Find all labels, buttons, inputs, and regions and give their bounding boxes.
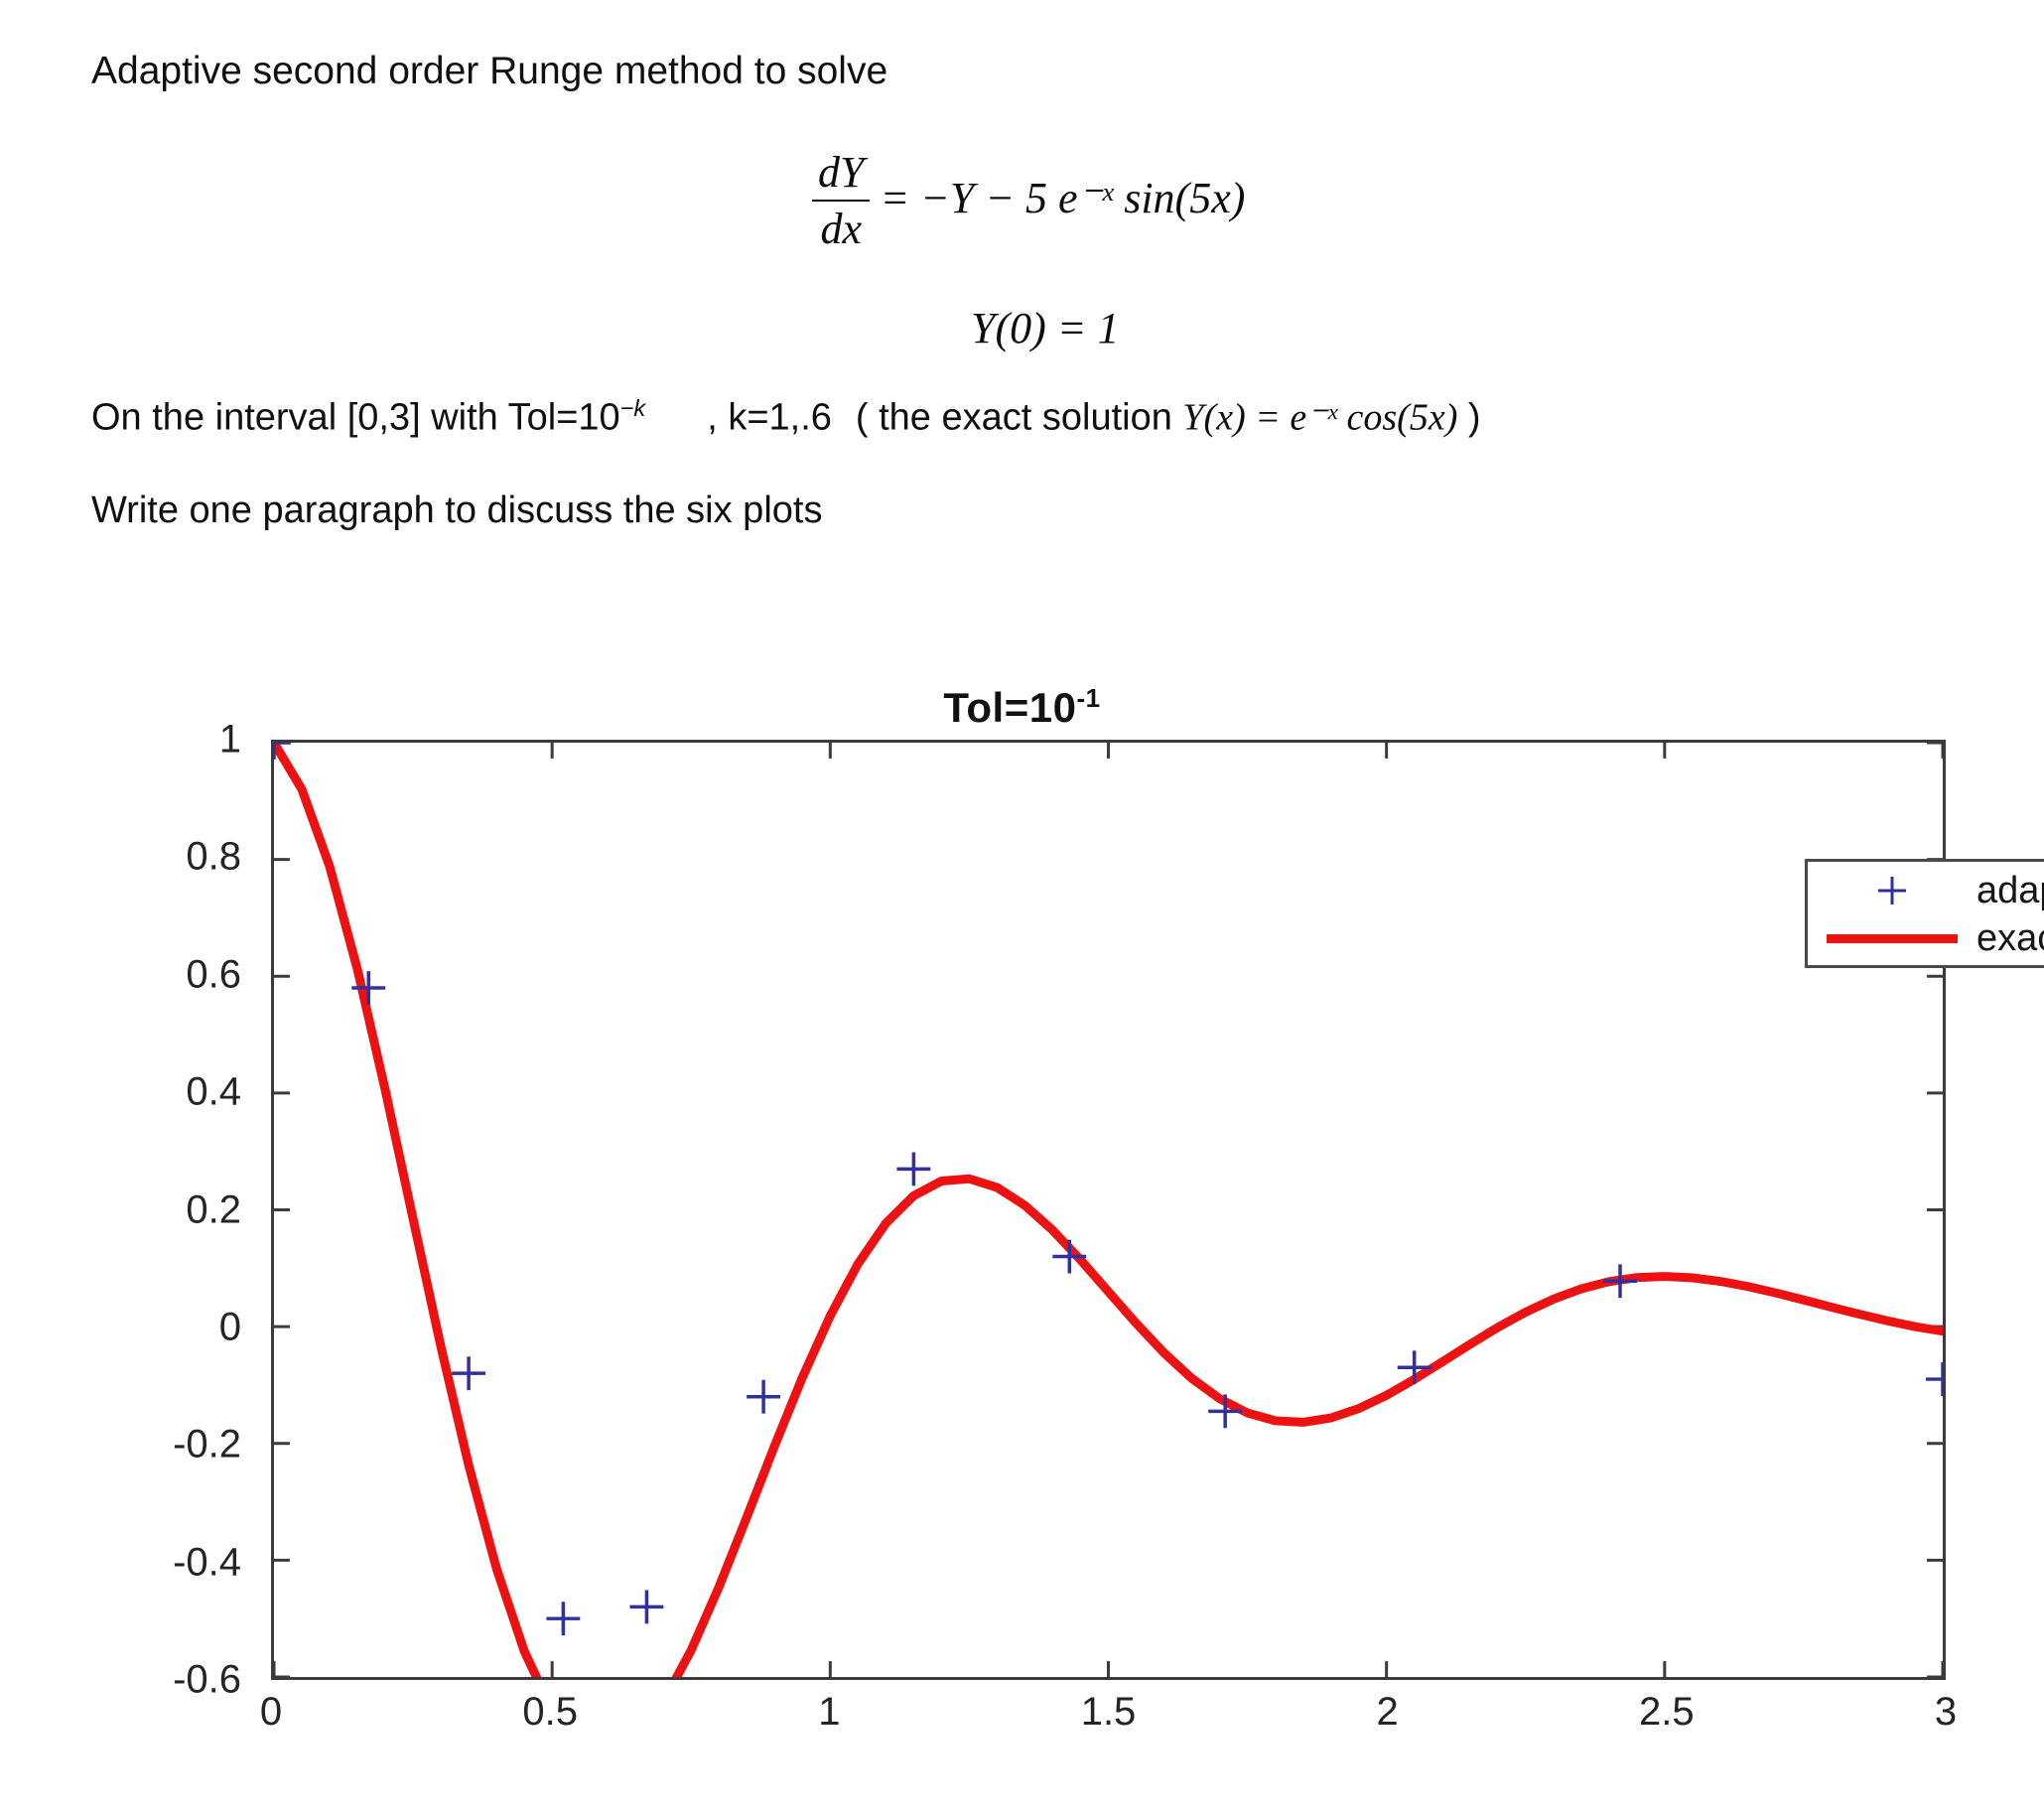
adaptive-marker bbox=[629, 1591, 663, 1624]
interval-prefix: On the interval [0,3] with Tol=10 bbox=[91, 397, 620, 439]
fraction-denominator: dx bbox=[812, 200, 870, 254]
task-line: Write one paragraph to discuss the six p… bbox=[91, 491, 822, 529]
adaptive-marker bbox=[1603, 1264, 1637, 1298]
y-tick-label: -0.6 bbox=[173, 1658, 241, 1703]
figure-tol-1e-1: Tol=10-1 -0.6-0.4-0.200.20.40.60.81 00.5… bbox=[0, 655, 2044, 1767]
y-tick-label: 0.2 bbox=[186, 1187, 241, 1232]
adaptive-marker bbox=[546, 1602, 580, 1635]
axis-ticks bbox=[274, 743, 1943, 1677]
chart-title: Tol=10-1 bbox=[0, 683, 2044, 732]
y-tick-label: 0.8 bbox=[186, 835, 241, 880]
y-tick-label: -0.2 bbox=[173, 1423, 241, 1467]
tolerance-exponent: −k bbox=[620, 395, 646, 421]
plot-area: adaptive exact bbox=[271, 740, 1946, 1680]
y-tick-label: 0.6 bbox=[186, 952, 241, 997]
y-tick-label: -0.4 bbox=[173, 1540, 241, 1585]
adaptive-marker-group bbox=[274, 743, 1943, 1635]
x-tick-label: 0 bbox=[260, 1690, 282, 1735]
legend-item-adaptive: adaptive bbox=[1808, 866, 2044, 915]
x-tick-label: 1.5 bbox=[1081, 1690, 1137, 1735]
adaptive-marker bbox=[1398, 1350, 1431, 1384]
x-axis-labels: 00.511.522.53 bbox=[271, 1690, 1946, 1759]
legend-item-exact: exact bbox=[1808, 913, 2044, 963]
k-range: , k=1,.6 bbox=[707, 397, 832, 439]
x-tick-label: 1 bbox=[818, 1690, 840, 1735]
legend-label-exact: exact bbox=[1976, 917, 2044, 960]
adaptive-marker bbox=[452, 1356, 485, 1390]
chart-title-base: Tol=10 bbox=[943, 684, 1076, 731]
chart-legend: adaptive exact bbox=[1805, 859, 2044, 968]
x-tick-label: 3 bbox=[1935, 1690, 1957, 1735]
y-axis-labels: -0.6-0.4-0.200.20.40.60.81 bbox=[0, 740, 263, 1680]
x-tick-label: 2.5 bbox=[1639, 1690, 1695, 1735]
initial-condition: Y(0) = 1 bbox=[971, 303, 1119, 353]
y-tick-label: 0 bbox=[219, 1305, 241, 1349]
equation-right-hand-side: = −Y − 5 e⁻ˣ sin(5x) bbox=[880, 174, 1245, 222]
legend-label-adaptive: adaptive bbox=[1976, 870, 2044, 912]
interval-line: On the interval [0,3] with Tol=10−k, k=1… bbox=[91, 397, 1481, 437]
exact-solution-expression: Y(x) = e⁻ˣ cos(5x) bbox=[1182, 397, 1457, 439]
derivative-fraction: dY dx bbox=[812, 147, 870, 254]
exact-solution-suffix: ) bbox=[1457, 397, 1480, 439]
exact-solution-curve bbox=[274, 743, 1943, 1677]
plot-canvas bbox=[274, 743, 1943, 1677]
adaptive-marker bbox=[747, 1380, 780, 1414]
line-sample-icon bbox=[1808, 934, 1976, 943]
differential-equation: dY dx = −Y − 5 e⁻ˣ sin(5x) bbox=[812, 149, 1245, 256]
adaptive-marker bbox=[1052, 1240, 1086, 1274]
y-tick-label: 1 bbox=[219, 718, 241, 763]
y-tick-label: 0.4 bbox=[186, 1070, 241, 1115]
page-heading: Adaptive second order Runge method to so… bbox=[91, 52, 887, 90]
chart-title-exponent: -1 bbox=[1076, 683, 1100, 713]
plus-marker-icon bbox=[1808, 871, 1976, 910]
x-tick-label: 0.5 bbox=[522, 1690, 578, 1735]
adaptive-marker bbox=[1926, 1362, 1943, 1396]
adaptive-marker bbox=[896, 1152, 930, 1186]
x-tick-label: 2 bbox=[1377, 1690, 1399, 1735]
fraction-numerator: dY bbox=[812, 147, 870, 200]
exact-solution-prefix: ( the exact solution bbox=[856, 397, 1183, 439]
